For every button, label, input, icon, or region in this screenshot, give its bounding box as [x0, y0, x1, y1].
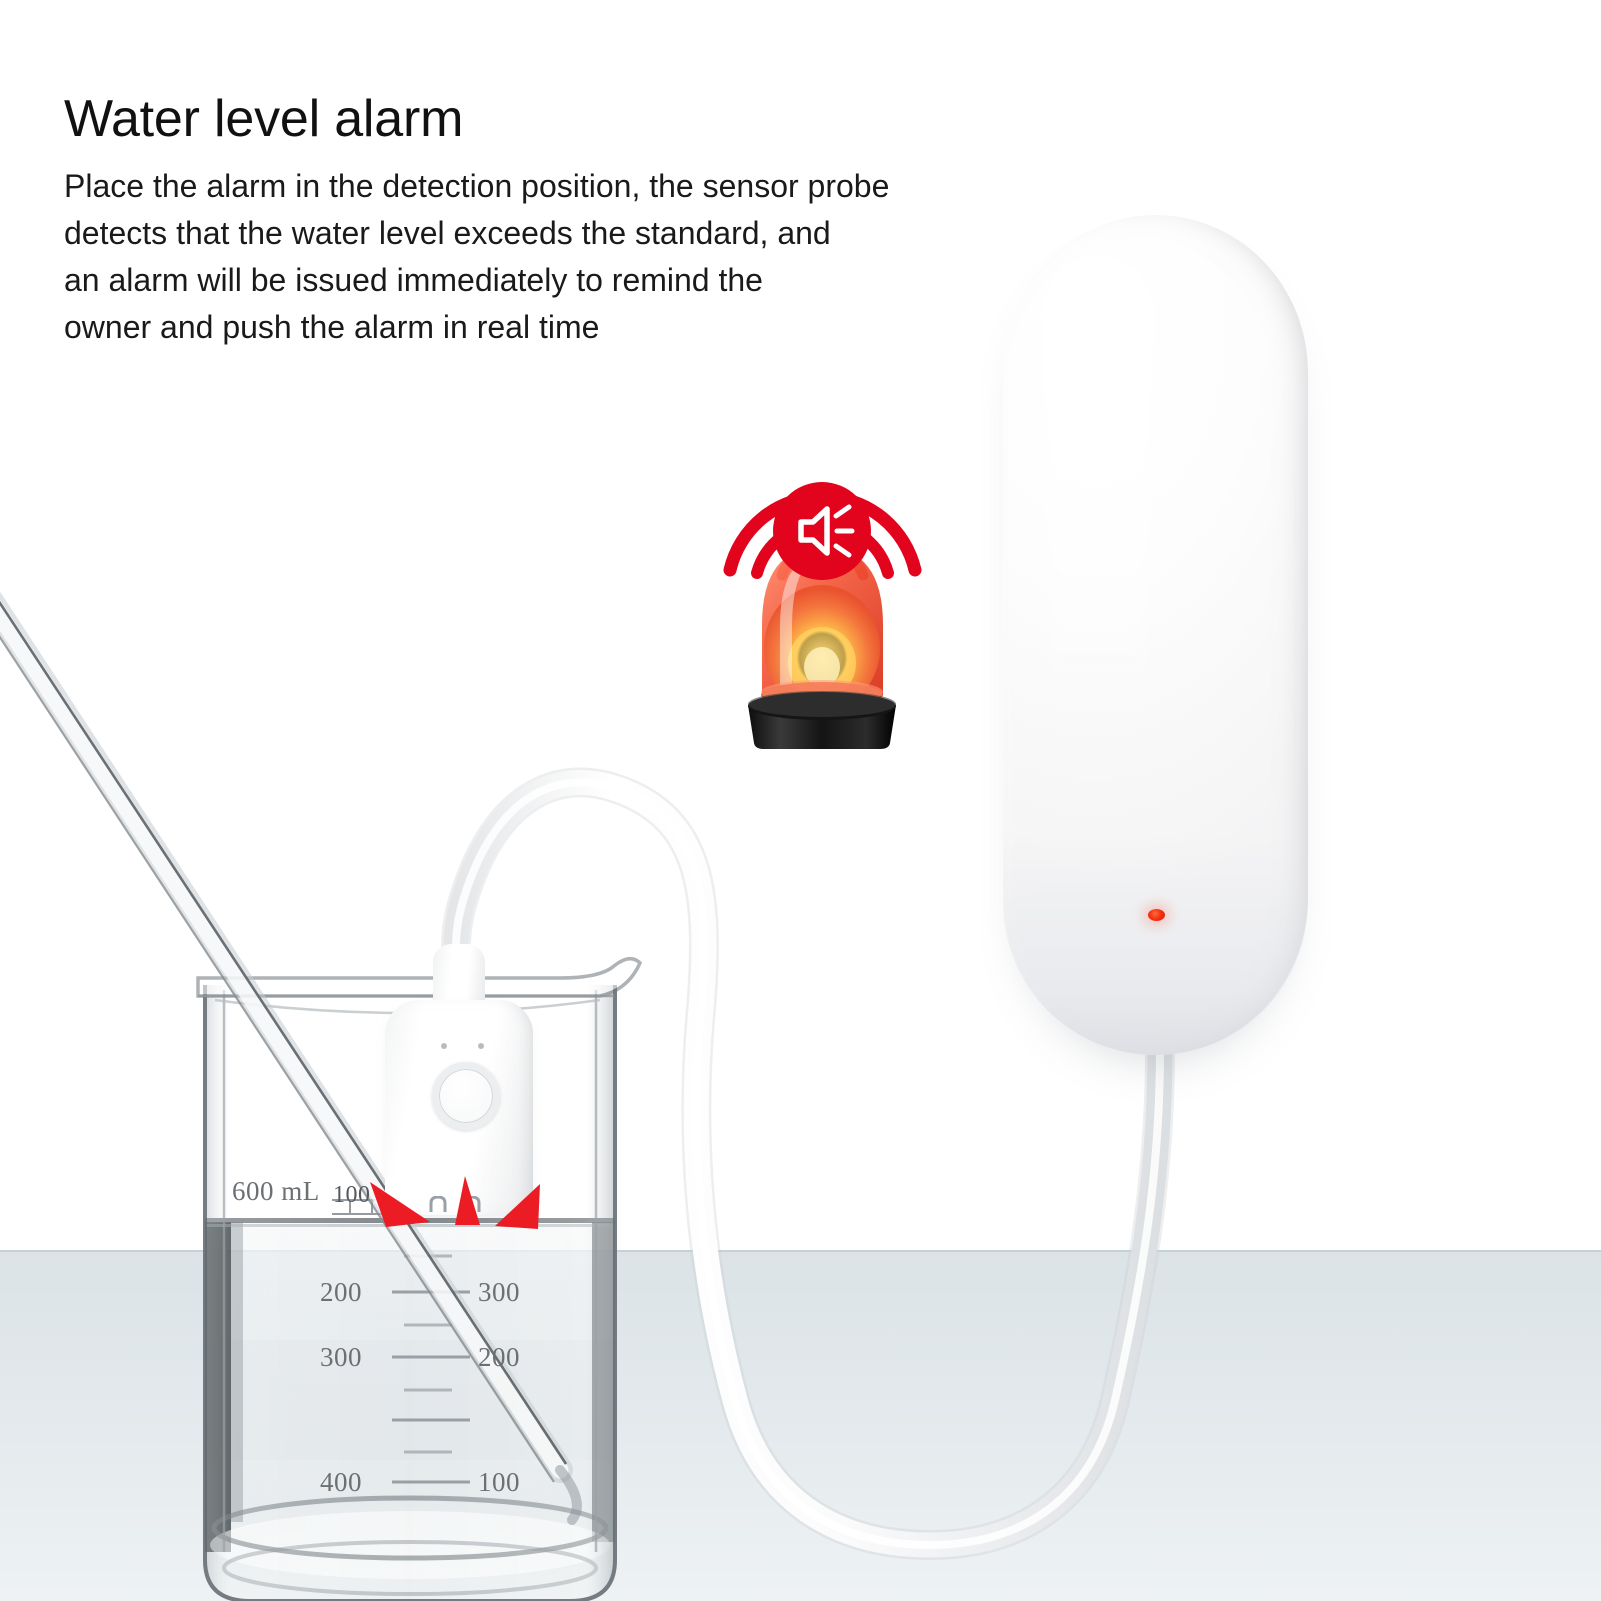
description-paragraph: Place the alarm in the detection positio… [64, 163, 1124, 351]
status-led-indicator [1148, 909, 1165, 921]
table-edge-line [0, 1250, 1601, 1252]
speaker-alert-badge [773, 482, 871, 580]
product-feature-image: Water level alarm Place the alarm in the… [0, 0, 1601, 1601]
beaker-grad-left-1: 300 [320, 1342, 362, 1373]
description-line-4: owner and push the alarm in real time [64, 304, 1124, 351]
description-line-2: detects that the water level exceeds the… [64, 210, 1124, 257]
probe-ring-button[interactable] [432, 1062, 500, 1130]
probe-metal-contacts [417, 1196, 503, 1212]
beaker-grad-left-2: 400 [320, 1467, 362, 1498]
beaker-grad-right-1: 200 [478, 1342, 520, 1373]
speaker-icon [773, 482, 871, 580]
probe-vent-dot-right [478, 1043, 484, 1049]
beaker-waterline-left-label: 100 [333, 1182, 371, 1209]
page-title: Water level alarm [64, 88, 463, 150]
description-line-3: an alarm will be issued immediately to r… [64, 257, 1124, 304]
beaker-grad-right-2: 100 [478, 1467, 520, 1498]
water-sensor-body[interactable] [1003, 215, 1308, 1055]
background-table-surface [0, 1250, 1601, 1601]
beaker-grad-right-0: 300 [478, 1277, 520, 1308]
pill-highlight [1039, 255, 1157, 775]
beaker-grad-left-0: 200 [320, 1277, 362, 1308]
description-line-1: Place the alarm in the detection positio… [64, 163, 1124, 210]
probe-vent-dot-left [441, 1043, 447, 1049]
beaker-capacity-label: 600 mL [232, 1176, 320, 1207]
